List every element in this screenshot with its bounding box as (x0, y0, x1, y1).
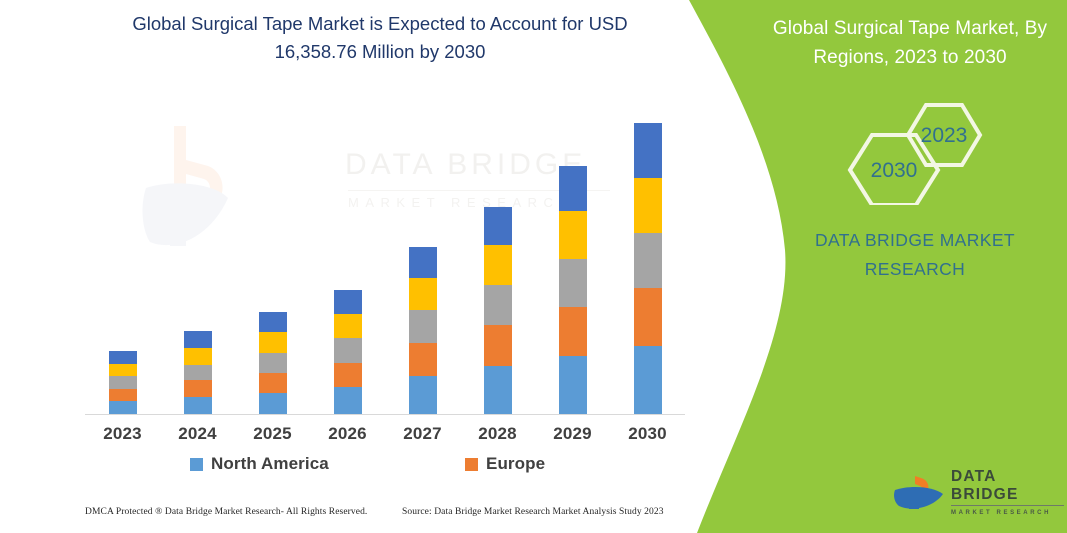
bar-segment (409, 278, 437, 311)
bar-segment (109, 364, 137, 377)
bar-2025 (259, 312, 287, 414)
bar-segment (484, 245, 512, 285)
bar-segment (559, 166, 587, 211)
bar-segment (559, 211, 587, 258)
x-axis-label-2030: 2030 (618, 424, 678, 444)
bar-segment (634, 123, 662, 178)
legend-item-europe[interactable]: Europe (465, 454, 545, 474)
bar-2028 (484, 207, 512, 414)
bar-segment (184, 397, 212, 414)
legend-label: North America (211, 454, 329, 474)
x-axis-label-2028: 2028 (468, 424, 528, 444)
bar-segment (334, 387, 362, 414)
chart-legend: North AmericaEurope (85, 454, 685, 480)
x-axis-label-2027: 2027 (393, 424, 453, 444)
x-axis-labels: 20232024202520262027202820292030 (85, 424, 685, 448)
bar-segment (184, 380, 212, 397)
bar-segment (634, 178, 662, 234)
x-axis-label-2023: 2023 (93, 424, 153, 444)
bar-segment (634, 288, 662, 346)
panel-title: Global Surgical Tape Market, By Regions,… (760, 14, 1060, 72)
brand-logo-mark-icon (893, 462, 945, 512)
legend-label: Europe (486, 454, 545, 474)
bar-segment (259, 353, 287, 373)
bar-segment (559, 259, 587, 307)
bar-segment (259, 332, 287, 353)
brand-logo-title: DATA BRIDGE (951, 468, 1066, 504)
bar-2026 (334, 290, 362, 414)
bar-segment (484, 366, 512, 414)
panel-brand: DATA BRIDGE MARKET RESEARCH (790, 226, 1040, 284)
infographic-canvas: Global Surgical Tape Market, By Regions,… (0, 0, 1067, 533)
brand-logo-subtitle: MARKET RESEARCH (951, 507, 1066, 519)
bar-segment (334, 363, 362, 387)
bar-segment (184, 348, 212, 365)
brand-logo-divider (951, 505, 1064, 506)
hexagon-group: 2030 2023 (830, 95, 1010, 205)
bar-2030 (634, 123, 662, 414)
bar-segment (259, 312, 287, 332)
bar-segment (634, 233, 662, 288)
bar-segment (559, 307, 587, 356)
bar-segment (259, 373, 287, 393)
bar-segment (109, 401, 137, 414)
bar-segment (184, 331, 212, 348)
bar-segment (184, 365, 212, 381)
bar-segment (409, 376, 437, 414)
brand-logo: DATA BRIDGE MARKET RESEARCH (893, 462, 1063, 514)
bar-segment (109, 376, 137, 389)
bar-segment (109, 389, 137, 402)
page-title: Global Surgical Tape Market is Expected … (120, 10, 640, 66)
bar-segment (634, 346, 662, 414)
x-axis-line (85, 414, 685, 415)
bar-segment (484, 285, 512, 325)
footer-source: Source: Data Bridge Market Research Mark… (402, 507, 664, 517)
x-axis-label-2026: 2026 (318, 424, 378, 444)
x-axis-label-2025: 2025 (243, 424, 303, 444)
legend-item-north-america[interactable]: North America (190, 454, 329, 474)
x-axis-label-2029: 2029 (543, 424, 603, 444)
bar-segment (484, 325, 512, 366)
bar-segment (409, 343, 437, 377)
bar-segment (334, 338, 362, 362)
footer-copyright: DMCA Protected ® Data Bridge Market Rese… (85, 507, 367, 517)
bar-2029 (559, 166, 587, 414)
bar-segment (334, 314, 362, 338)
bar-2027 (409, 247, 437, 414)
bar-segment (334, 290, 362, 314)
bar-segment (409, 247, 437, 277)
bar-segment (484, 207, 512, 245)
legend-swatch-icon (465, 458, 478, 471)
bar-segment (409, 310, 437, 343)
bar-segment (259, 393, 287, 414)
stacked-bar-chart (85, 100, 685, 415)
bar-2023 (109, 351, 137, 414)
bar-segment (109, 351, 137, 364)
bar-2024 (184, 331, 212, 414)
hexagon-2023-label: 2023 (921, 124, 968, 147)
bar-segment (559, 356, 587, 414)
hexagon-2030-label: 2030 (871, 159, 918, 182)
x-axis-label-2024: 2024 (168, 424, 228, 444)
legend-swatch-icon (190, 458, 203, 471)
brand-logo-text: DATA BRIDGE MARKET RESEARCH (951, 468, 1066, 519)
